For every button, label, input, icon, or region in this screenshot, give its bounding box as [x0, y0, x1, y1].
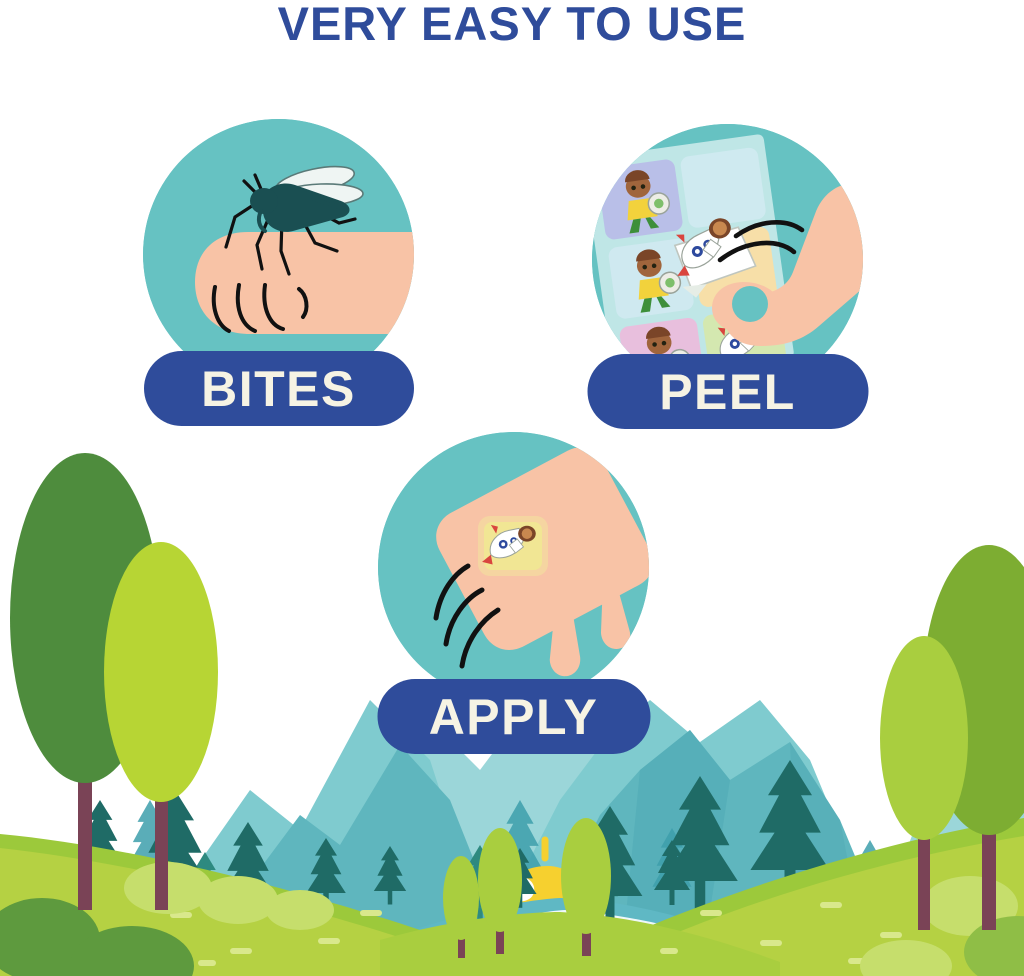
sticker-square — [680, 147, 767, 229]
step-label-apply-text: APPLY — [429, 688, 599, 746]
sticker-on-hand-illustration — [378, 432, 649, 703]
step-bites: BITES — [143, 119, 414, 390]
page-title: VERY EASY TO USE — [0, 0, 1024, 50]
infographic-page: VERY EASY TO USE — [0, 0, 1024, 976]
mosquito-on-hand-illustration — [143, 119, 414, 390]
step-label-peel[interactable]: PEEL — [587, 354, 868, 429]
step-apply: APPLY — [378, 432, 649, 703]
step-label-bites-text: BITES — [201, 360, 356, 418]
step-peel: PEEL — [592, 124, 863, 395]
step-label-apply[interactable]: APPLY — [377, 679, 650, 754]
step-label-bites[interactable]: BITES — [144, 351, 414, 426]
step-label-peel-text: PEEL — [659, 363, 796, 421]
